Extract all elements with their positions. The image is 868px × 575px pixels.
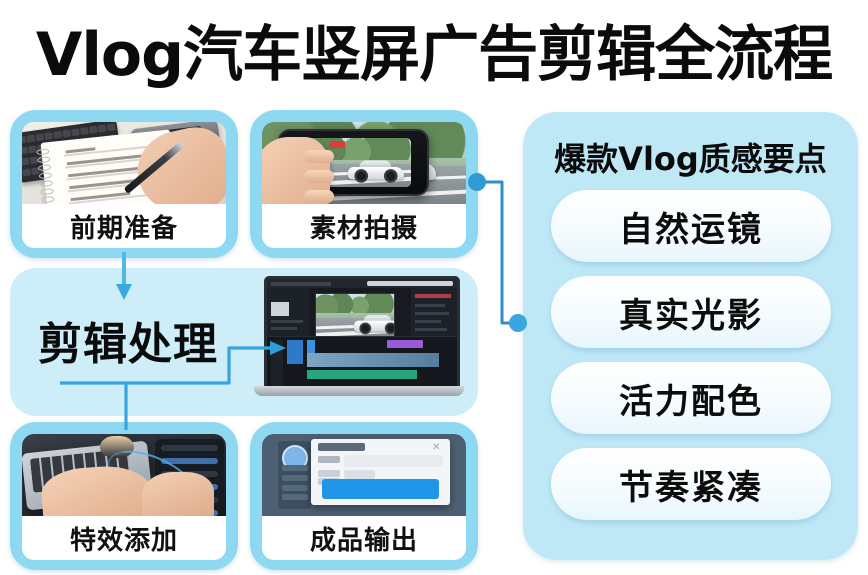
photo-road-scene: [262, 122, 466, 204]
photo-desk-scene: [22, 122, 226, 204]
step-card-inner: 素材拍摄: [262, 122, 466, 248]
export-dialog-screenshot: ✕: [262, 434, 466, 516]
step-card-inner: 特效添加: [22, 434, 226, 560]
laptop-base: [254, 386, 464, 396]
editor-timeline[interactable]: [267, 336, 457, 389]
step-card-shoot[interactable]: 素材拍摄: [250, 110, 478, 258]
notebook-rings: [36, 148, 52, 204]
export-dialog[interactable]: ✕: [311, 439, 450, 505]
panel-pill-list: 自然运镜 真实光影 活力配色 节奏紧凑: [551, 190, 831, 534]
desk-notebook-keyboard-phone-photo: [22, 122, 226, 204]
dialog-title: [318, 443, 365, 451]
panel-title: 爆款Vlog质感要点: [523, 134, 858, 180]
step-label-shoot: 素材拍摄: [262, 204, 466, 248]
laptop-screen: [264, 276, 460, 392]
editor-inspector: [411, 288, 457, 337]
photo-export-scene: ✕: [262, 434, 466, 516]
pill-natural-camera[interactable]: 自然运镜: [551, 190, 831, 262]
laptop-hands-editing-effects-photo: [22, 434, 226, 516]
step-label-out: 成品输出: [262, 516, 466, 560]
step-label-prep: 前期准备: [22, 204, 226, 248]
pill-real-light[interactable]: 真实光影: [551, 276, 831, 348]
infographic-root: Vlog汽车竖屏广告剪辑全流程: [0, 0, 868, 575]
pill-tight-rhythm[interactable]: 节奏紧凑: [551, 448, 831, 520]
page-title: Vlog汽车竖屏广告剪辑全流程: [0, 8, 868, 90]
step-card-fx[interactable]: 特效添加: [10, 422, 238, 570]
quality-points-panel: 爆款Vlog质感要点 自然运镜 真实光影 活力配色 节奏紧凑: [523, 112, 858, 560]
editor-preview: [315, 293, 395, 339]
hand-holding-phone-filming-car-photo: [262, 122, 466, 204]
flow-column: 前期准备: [0, 100, 500, 575]
pill-vivid-color[interactable]: 活力配色: [551, 362, 831, 434]
hand-on-mouse-object: [142, 472, 214, 516]
hand-holding-object: [262, 137, 330, 204]
editor-media-panel: [267, 288, 309, 337]
step-card-out[interactable]: ✕ 成品输出: [250, 422, 478, 570]
edit-band-label: 剪辑处理: [38, 308, 218, 372]
editor-menubar: [267, 279, 457, 288]
app-sidebar: [278, 441, 311, 510]
export-confirm-button[interactable]: [322, 479, 439, 499]
edit-band[interactable]: 剪辑处理: [10, 268, 478, 416]
photo-fx-scene: [22, 434, 226, 516]
step-card-inner: 前期准备: [22, 122, 226, 248]
close-icon[interactable]: ✕: [431, 443, 441, 453]
step-label-fx: 特效添加: [22, 516, 226, 560]
step-card-inner: ✕ 成品输出: [262, 434, 466, 560]
laptop-video-editing-timeline-photo: [254, 276, 464, 408]
step-card-prep[interactable]: 前期准备: [10, 110, 238, 258]
record-indicator: [329, 141, 345, 148]
